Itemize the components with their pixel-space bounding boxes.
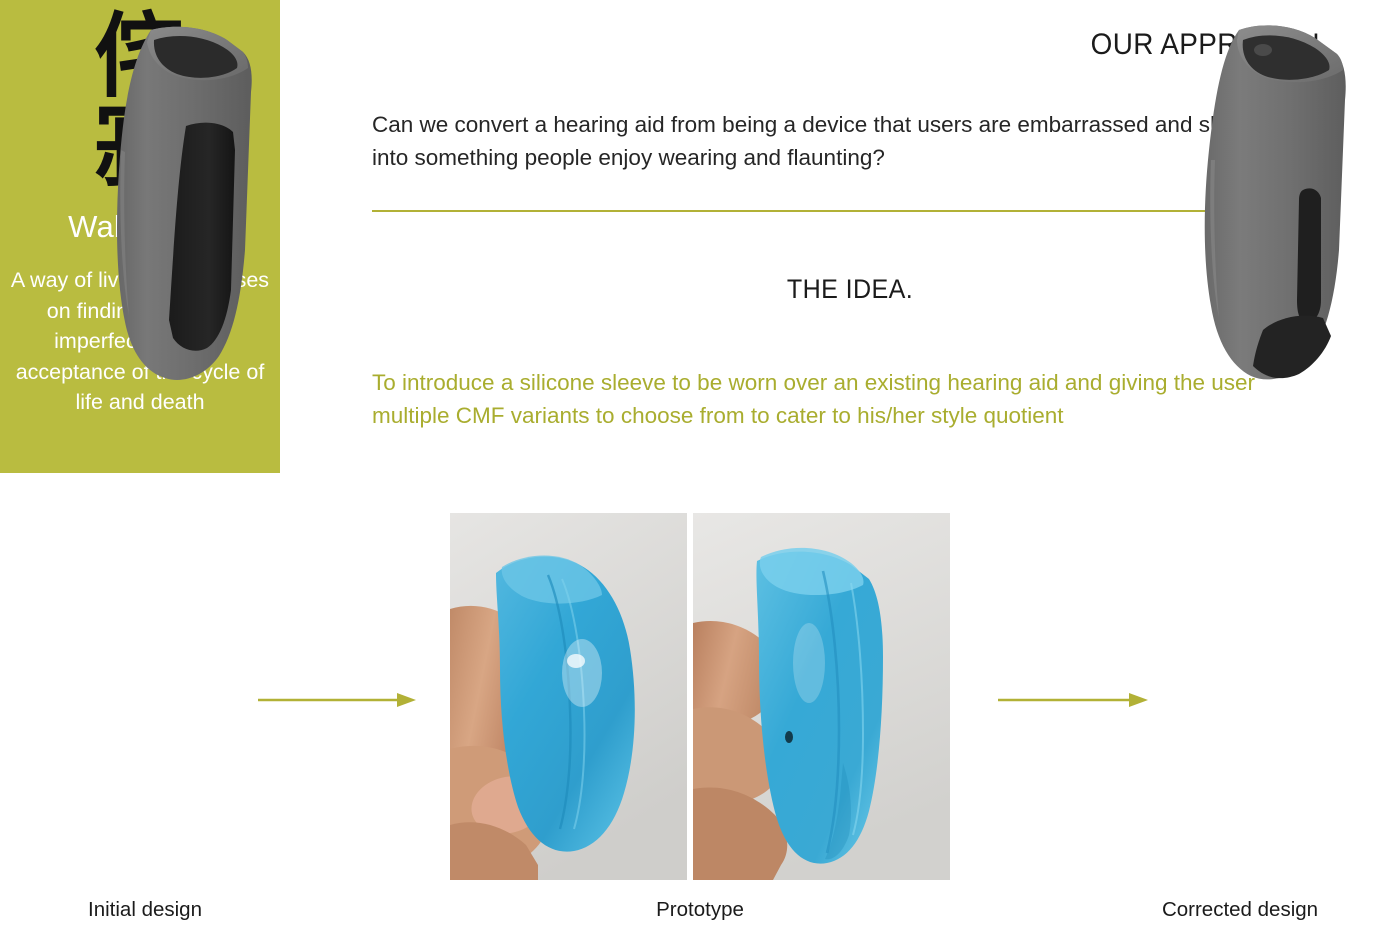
corrected-design-render — [1155, 0, 1400, 390]
arrow-initial-to-prototype — [258, 692, 416, 708]
specular-highlight — [562, 639, 602, 707]
specular-highlight — [793, 623, 825, 703]
specular-dot — [567, 654, 585, 668]
caption-initial-design: Initial design — [20, 898, 270, 922]
sleeve-slot-channel — [1297, 188, 1321, 322]
surface-defect-dot — [785, 731, 793, 743]
initial-design-render — [55, 0, 335, 390]
arrow-prototype-to-corrected — [998, 692, 1148, 708]
prototype-photo-right — [693, 513, 950, 880]
prototype-photo-pair — [450, 513, 950, 880]
caption-prototype: Prototype — [575, 898, 825, 922]
prototype-photo-left — [450, 513, 687, 880]
caption-corrected-design: Corrected design — [1115, 898, 1365, 922]
port-hole — [1254, 44, 1272, 56]
